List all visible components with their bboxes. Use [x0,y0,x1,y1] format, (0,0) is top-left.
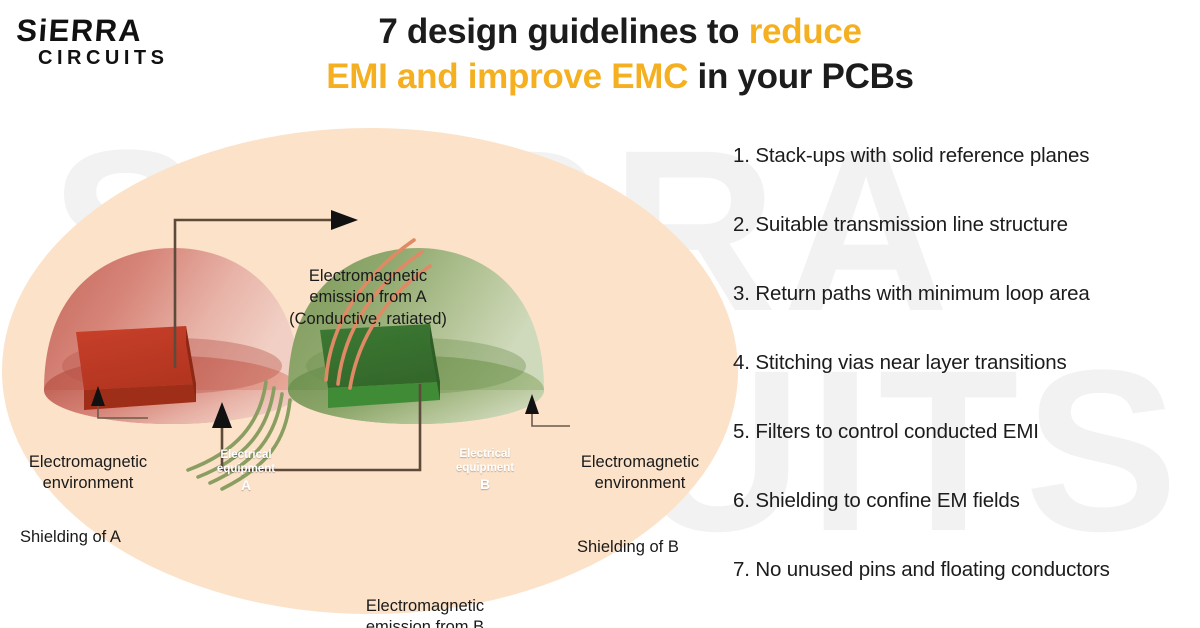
label-environment-a: Electromagnetic environment [8,452,168,495]
title-text-accent-1: reduce [749,12,862,51]
label-environment-b-line1: Electromagnetic [560,452,720,473]
label-environment-b: Electromagnetic environment [560,452,720,495]
label-environment-b-line2: environment [560,473,720,494]
label-environment-a-line2: environment [8,473,168,494]
equipment-b-id: B [437,476,533,493]
electrical-equipment-box-a [76,326,196,410]
page-title: 7 design guidelines to reduce EMI and im… [250,10,990,100]
infographic-canvas: SIERRA CIRCUITS SiERRA CIRCUITS 7 design… [0,0,1200,628]
equipment-a-label: Electrical equipment A [198,449,294,494]
guideline-item-6: 6. Shielding to confine EM fields [733,481,1200,550]
logo-wordmark-bottom: CIRCUITS [38,47,168,68]
equipment-b-line1: Electrical [459,448,510,460]
label-emission-from-b: Electromagnetic emission from B (Conduct… [300,596,550,628]
label-emission-b-line1: Electromagnetic [300,596,550,617]
title-text-plain-2: in your PCBs [688,57,914,96]
label-shielding-a: Shielding of A [20,527,148,548]
guideline-item-1: 1. Stack-ups with solid reference planes [733,136,1200,205]
label-shielding-b: Shielding of B [577,537,707,558]
equipment-b-line2: equipment [456,462,514,474]
equipment-a-id: A [198,477,294,494]
emc-environment-diagram: Electromagnetic emission from A (Conduct… [0,118,740,628]
guideline-item-7: 7. No unused pins and floating conductor… [733,550,1200,619]
guidelines-list: 1. Stack-ups with solid reference planes… [733,136,1200,619]
page-title-line-1: 7 design guidelines to reduce [250,10,990,55]
page-title-line-2: EMI and improve EMC in your PCBs [250,55,990,100]
equipment-b-label: Electrical equipment B [437,448,533,493]
label-emission-a-line3: (Conductive, ratiated) [243,309,493,330]
logo-wordmark-top: SiERRA [16,13,144,48]
label-environment-a-line1: Electromagnetic [8,452,168,473]
guideline-item-4: 4. Stitching vias near layer transitions [733,343,1200,412]
guideline-item-5: 5. Filters to control conducted EMI [733,412,1200,481]
equipment-a-line1: Electrical [220,449,271,461]
title-text-plain-1: 7 design guidelines to [378,12,748,51]
label-emission-from-a: Electromagnetic emission from A (Conduct… [243,266,493,330]
electrical-equipment-box-b [320,324,440,408]
label-emission-b-line2: emission from B [300,617,550,628]
guideline-item-2: 2. Suitable transmission line structure [733,205,1200,274]
guideline-item-3: 3. Return paths with minimum loop area [733,274,1200,343]
label-emission-a-line1: Electromagnetic [243,266,493,287]
equipment-a-line2: equipment [217,463,275,475]
label-emission-a-line2: emission from A [243,287,493,308]
sierra-circuits-logo: SiERRA CIRCUITS [16,8,196,68]
title-text-accent-2: EMI and improve EMC [326,57,688,96]
